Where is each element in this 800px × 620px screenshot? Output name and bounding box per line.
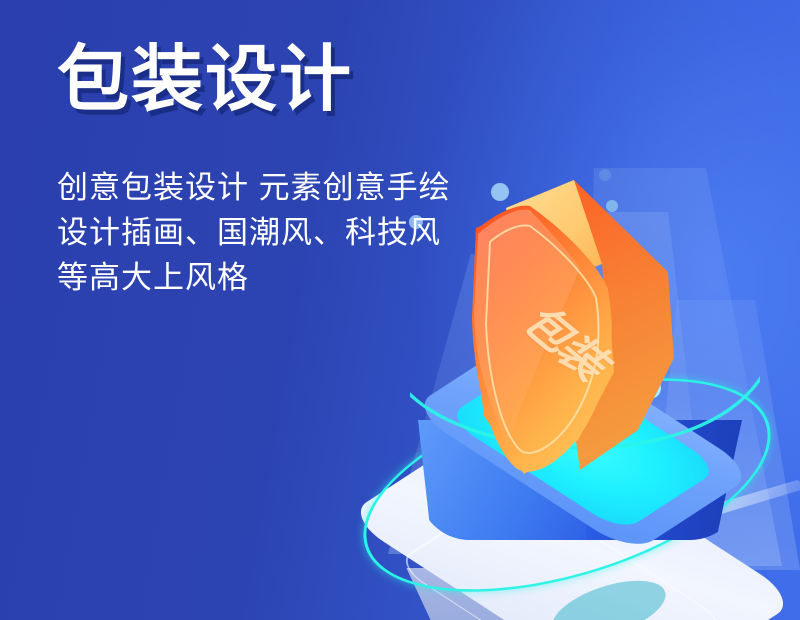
text-block: 包装设计 创意包装设计 元素创意手绘 设计插画、国潮风、科技风 等高大上风格 bbox=[57, 40, 527, 300]
subtitle-line: 设计插画、国潮风、科技风 bbox=[57, 210, 527, 255]
page-title: 包装设计 bbox=[57, 40, 527, 121]
subtitle-block: 创意包装设计 元素创意手绘 设计插画、国潮风、科技风 等高大上风格 bbox=[57, 165, 527, 300]
subtitle-line: 创意包装设计 元素创意手绘 bbox=[57, 165, 527, 210]
promo-banner: Brand bbox=[0, 0, 800, 620]
shield-cast-shadow bbox=[545, 569, 672, 620]
subtitle-line: 等高大上风格 bbox=[57, 255, 527, 300]
